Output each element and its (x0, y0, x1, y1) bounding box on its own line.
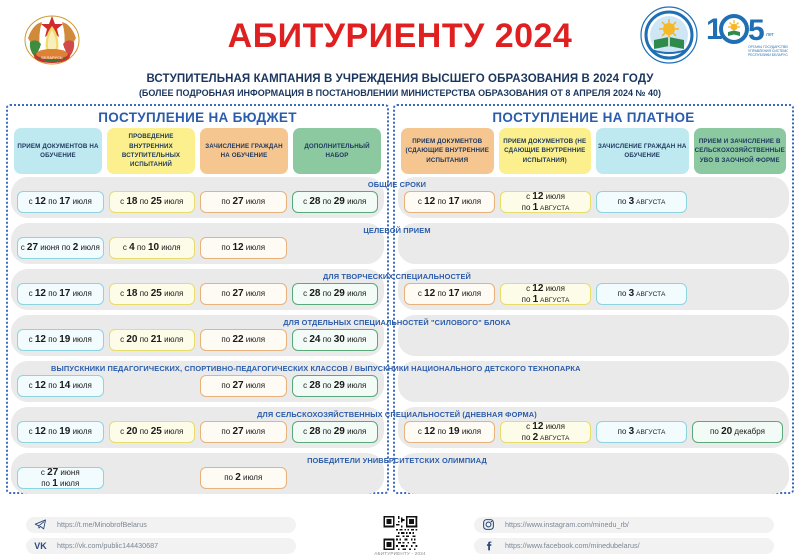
schedule-cell-text: с 12 июляпо 1 АВГУСТА (522, 191, 570, 214)
column-header-label: ПРИЕМ ДОКУМЕНТОВ (НЕ СДАЮЩИЕ ВНУТРЕННИЕ … (500, 137, 591, 165)
vk-icon[interactable]: VK (34, 539, 47, 552)
schedule-cell-text: с 28 по 29 июля (303, 288, 366, 300)
schedule-cell-text: с 12 по 19 июля (29, 334, 92, 346)
schedule-cell-text: с 12 по 17 июля (418, 196, 481, 208)
schedule-row-cells: с 27 июня по 2 июляс 4 по 10 июляпо 12 и… (11, 237, 384, 259)
schedule-row-cells: с 12 по 19 июляс 20 по 21 июляпо 22 июля… (11, 329, 384, 351)
schedule-cell-paid-r0-c1: с 12 июляпо 1 АВГУСТА (500, 191, 591, 213)
schedule-row-cells: с 12 по 17 июляс 18 по 25 июляпо 27 июля… (11, 191, 384, 213)
column-header-budget-1: ПРОВЕДЕНИЕ ВНУТРЕННИХ ВСТУПИТЕЛЬНЫХ ИСПЫ… (107, 128, 195, 174)
schedule-cell-paid-r5-c3: по 20 декабря (692, 421, 783, 443)
schedule-row: ВЫПУСКНИКИ ПЕДАГОГИЧЕСКИХ, СПОРТИВНО-ПЕД… (11, 361, 384, 402)
schedule-cell-text: с 12 по 19 июля (418, 426, 481, 438)
schedule-cell-paid-r2-c2: по 3 АВГУСТА (596, 283, 687, 305)
schedule-row (398, 315, 789, 356)
schedule-cell-paid-r2-c0: с 12 по 17 июля (404, 283, 495, 305)
footer-links-right: https://www.instagram.com/minedu_rb/http… (474, 517, 774, 554)
budget-column-headers: ПРИЕМ ДОКУМЕНТОВ НА ОБУЧЕНИЕПРОВЕДЕНИЕ В… (11, 128, 384, 174)
svg-text:БЕЛАРУСЬ: БЕЛАРУСЬ (41, 55, 63, 60)
schedule-cell-budget-r2-c0: с 12 по 17 июля (17, 283, 104, 305)
schedule-cell-text: по 2 июля (224, 472, 262, 484)
schedule-cell-budget-r1-c1: с 4 по 10 июля (109, 237, 196, 259)
footer-links-left: https://t.me/MinobrofBelarusVKhttps://vk… (26, 517, 296, 554)
budget-rows: ОБЩИЕ СРОКИс 12 по 17 июляс 18 по 25 июл… (11, 177, 384, 494)
schedule-cell-empty (292, 237, 379, 259)
footer-link-url[interactable]: https://vk.com/public144430687 (57, 541, 158, 550)
schedule-row-cells: с 12 по 19 июляс 12 июляпо 2 АВГУСТАпо 3… (398, 421, 789, 443)
panel-paid-title: ПОСТУПЛЕНИЕ НА ПЛАТНОЕ (398, 110, 789, 125)
paid-column-headers: ПРИЕМ ДОКУМЕНТОВ (СДАЮЩИЕ ВНУТРЕННИЕ ИСП… (398, 128, 789, 174)
instagram-icon[interactable] (482, 518, 495, 531)
schedule-cell-text: с 18 по 25 июля (120, 196, 183, 208)
schedule-cell-empty (292, 467, 379, 489)
column-header-label: ЗАЧИСЛЕНИЕ ГРАЖДАН НА ОБУЧЕНИЕ (201, 142, 287, 161)
ministry-of-education-logo-icon (640, 6, 698, 64)
footer-link-url[interactable]: https://t.me/MinobrofBelarus (57, 520, 147, 529)
footer-link-row[interactable]: https://t.me/MinobrofBelarus (26, 517, 296, 533)
schedule-row-cells: с 27 июняпо 1 июляпо 2 июля (11, 467, 384, 489)
schedule-cell-text: по 3 АВГУСТА (618, 426, 666, 438)
qr-code-block: АБИТУРИЕНТУ - 2024 (374, 516, 425, 556)
admission-schedule: ПОСТУПЛЕНИЕ НА БЮДЖЕТ ПРИЕМ ДОКУМЕНТОВ Н… (0, 104, 800, 494)
footer-link-row[interactable]: https://www.facebook.com/minedubelarus/ (474, 538, 774, 554)
schedule-cell-budget-r0-c1: с 18 по 25 июля (109, 191, 196, 213)
schedule-cell-text: с 28 по 29 июля (303, 196, 366, 208)
schedule-cell-text: с 28 по 29 июля (303, 426, 366, 438)
schedule-cell-text: с 4 по 10 июля (123, 242, 181, 254)
schedule-cell-text: по 3 АВГУСТА (618, 196, 666, 208)
panel-budget: ПОСТУПЛЕНИЕ НА БЮДЖЕТ ПРИЕМ ДОКУМЕНТОВ Н… (6, 104, 389, 494)
schedule-cell-budget-r5-c3: с 28 по 29 июля (292, 421, 379, 443)
schedule-row-cells: с 12 по 17 июляс 18 по 25 июляпо 27 июля… (11, 283, 384, 305)
schedule-row-cells: с 12 по 14 июляпо 27 июляс 28 по 29 июля (11, 375, 384, 397)
schedule-cell-empty (109, 467, 196, 489)
facebook-icon[interactable] (482, 539, 495, 552)
schedule-row: ЦЕЛЕВОЙ ПРИЕМс 27 июня по 2 июляс 4 по 1… (11, 223, 384, 264)
schedule-row-cells (398, 467, 789, 489)
schedule-row (398, 223, 789, 264)
footer-link-url[interactable]: https://www.instagram.com/minedu_rb/ (505, 520, 629, 529)
schedule-cell-text: по 3 АВГУСТА (618, 288, 666, 300)
schedule-cell-budget-r3-c2: по 22 июля (200, 329, 287, 351)
schedule-cell-budget-r2-c2: по 27 июля (200, 283, 287, 305)
header-logos: 1 5 лет ОРГАНЫ ГОСУДАРСТВЕННОГО УПРАВЛЕН… (640, 6, 788, 64)
schedule-cell-empty (692, 375, 783, 397)
column-header-label: ДОПОЛНИТЕЛЬНЫЙ НАБОР (294, 142, 380, 161)
footer-link-row[interactable]: https://www.instagram.com/minedu_rb/ (474, 517, 774, 533)
column-header-label: ПРОВЕДЕНИЕ ВНУТРЕННИХ ВСТУПИТЕЛЬНЫХ ИСПЫ… (108, 132, 194, 169)
subtitle-secondary: (БОЛЕЕ ПОДРОБНАЯ ИНФОРМАЦИЯ В ПОСТАНОВЛЕ… (0, 88, 800, 98)
schedule-cell-text: с 12 по 17 июля (29, 196, 92, 208)
schedule-cell-text: по 27 июля (221, 288, 265, 300)
schedule-cell-empty (500, 467, 591, 489)
schedule-cell-budget-r5-c2: по 27 июля (200, 421, 287, 443)
schedule-cell-empty (500, 329, 591, 351)
schedule-cell-paid-r0-c0: с 12 по 17 июля (404, 191, 495, 213)
schedule-cell-paid-r5-c1: с 12 июляпо 2 АВГУСТА (500, 421, 591, 443)
schedule-cell-budget-r3-c3: с 24 по 30 июля (292, 329, 379, 351)
schedule-cell-empty (692, 191, 783, 213)
schedule-cell-budget-r1-c2: по 12 июля (200, 237, 287, 259)
svg-text:РЕСПУБЛИКИ БЕЛАРУСЬ: РЕСПУБЛИКИ БЕЛАРУСЬ (748, 53, 788, 57)
schedule-cell-budget-r3-c0: с 12 по 19 июля (17, 329, 104, 351)
schedule-cell-budget-r0-c0: с 12 по 17 июля (17, 191, 104, 213)
page-header: БЕЛАРУСЬ АБИТУРИЕНТУ 2024 (0, 0, 800, 72)
svg-text:лет: лет (766, 32, 775, 38)
schedule-row: с 12 по 17 июляс 12 июляпо 1 АВГУСТАпо 3… (398, 177, 789, 218)
schedule-row (398, 361, 789, 402)
schedule-cell-empty (404, 467, 495, 489)
svg-text:VK: VK (34, 541, 47, 551)
schedule-cell-text: по 27 июля (221, 196, 265, 208)
belarus-coat-of-arms-icon: БЕЛАРУСЬ (16, 4, 88, 70)
subtitle-primary: ВСТУПИТЕЛЬНАЯ КАМПАНИЯ В УЧРЕЖДЕНИЯ ВЫСШ… (0, 73, 800, 85)
schedule-cell-paid-r5-c0: с 12 по 19 июля (404, 421, 495, 443)
svg-text:5: 5 (748, 14, 765, 47)
schedule-cell-empty (692, 467, 783, 489)
schedule-row-cells: с 12 по 19 июляс 20 по 25 июляпо 27 июля… (11, 421, 384, 443)
column-header-budget-2: ЗАЧИСЛЕНИЕ ГРАЖДАН НА ОБУЧЕНИЕ (200, 128, 288, 174)
schedule-cell-budget-r6-c0: с 27 июняпо 1 июля (17, 467, 104, 489)
schedule-cell-budget-r0-c3: с 28 по 29 июля (292, 191, 379, 213)
schedule-row-cells: с 12 по 17 июляс 12 июляпо 1 АВГУСТАпо 3… (398, 283, 789, 305)
schedule-row: ДЛЯ СЕЛЬСКОХОЗЯЙСТВЕННЫХ СПЕЦИАЛЬНОСТЕЙ … (11, 407, 384, 448)
schedule-cell-text: по 12 июля (221, 242, 265, 254)
schedule-cell-empty (404, 329, 495, 351)
schedule-cell-empty (692, 237, 783, 259)
column-header-label: ПРИЕМ ДОКУМЕНТОВ (СДАЮЩИЕ ВНУТРЕННИЕ ИСП… (402, 137, 493, 165)
schedule-cell-empty (596, 467, 687, 489)
schedule-row: с 12 по 17 июляс 12 июляпо 1 АВГУСТАпо 3… (398, 269, 789, 310)
schedule-cell-text: по 20 декабря (710, 426, 765, 438)
schedule-cell-budget-r1-c0: с 27 июня по 2 июля (17, 237, 104, 259)
footer-link-row[interactable]: VKhttps://vk.com/public144430687 (26, 538, 296, 554)
schedule-row-cells (398, 375, 789, 397)
column-header-budget-0: ПРИЕМ ДОКУМЕНТОВ НА ОБУЧЕНИЕ (14, 128, 102, 174)
schedule-cell-empty (596, 375, 687, 397)
schedule-cell-budget-r2-c3: с 28 по 29 июля (292, 283, 379, 305)
page-footer: https://t.me/MinobrofBelarusVKhttps://vk… (0, 511, 800, 559)
schedule-row-cells (398, 237, 789, 259)
schedule-cell-budget-r3-c1: с 20 по 21 июля (109, 329, 196, 351)
schedule-cell-text: с 20 по 25 июля (120, 426, 183, 438)
qr-caption: АБИТУРИЕНТУ - 2024 (374, 551, 425, 556)
schedule-cell-budget-r6-c2: по 2 июля (200, 467, 287, 489)
qr-code-icon (383, 516, 417, 550)
panel-budget-title: ПОСТУПЛЕНИЕ НА БЮДЖЕТ (11, 110, 384, 125)
schedule-cell-text: с 27 июня по 2 июля (21, 242, 100, 254)
schedule-cell-text: с 12 по 17 июля (418, 288, 481, 300)
schedule-cell-empty (404, 375, 495, 397)
schedule-cell-text: с 12 июляпо 2 АВГУСТА (522, 421, 570, 444)
schedule-row-cells: с 12 по 17 июляс 12 июляпо 1 АВГУСТАпо 3… (398, 191, 789, 213)
paid-rows: с 12 по 17 июляс 12 июляпо 1 АВГУСТАпо 3… (398, 177, 789, 494)
schedule-cell-text: с 12 по 14 июля (29, 380, 92, 392)
schedule-cell-budget-r4-c0: с 12 по 14 июля (17, 375, 104, 397)
schedule-cell-budget-r5-c1: с 20 по 25 июля (109, 421, 196, 443)
panel-paid: ПОСТУПЛЕНИЕ НА ПЛАТНОЕ ПРИЕМ ДОКУМЕНТОВ … (393, 104, 794, 494)
schedule-cell-text: по 27 июля (221, 380, 265, 392)
column-header-paid-0: ПРИЕМ ДОКУМЕНТОВ (СДАЮЩИЕ ВНУТРЕННИЕ ИСП… (401, 128, 494, 174)
schedule-cell-text: с 24 по 30 июля (303, 334, 366, 346)
column-header-label: ПРИЕМ ДОКУМЕНТОВ НА ОБУЧЕНИЕ (15, 142, 101, 161)
column-header-label: ЗАЧИСЛЕНИЕ ГРАЖДАН НА ОБУЧЕНИЕ (597, 142, 688, 161)
schedule-row: ДЛЯ ТВОРЧЕСКИХ СПЕЦИАЛЬНОСТЕЙс 12 по 17 … (11, 269, 384, 310)
column-header-paid-3: ПРИЕМ И ЗАЧИСЛЕНИЕ В СЕЛЬСКОХОЗЯЙСТВЕННЫ… (694, 128, 787, 174)
page-title: АБИТУРИЕНТУ 2024 (228, 17, 573, 56)
schedule-cell-empty (596, 329, 687, 351)
schedule-cell-text: с 12 по 19 июля (29, 426, 92, 438)
schedule-cell-paid-r5-c2: по 3 АВГУСТА (596, 421, 687, 443)
schedule-cell-empty (596, 237, 687, 259)
schedule-row (398, 453, 789, 494)
schedule-cell-budget-r2-c1: с 18 по 25 июля (109, 283, 196, 305)
column-header-label: ПРИЕМ И ЗАЧИСЛЕНИЕ В СЕЛЬСКОХОЗЯЙСТВЕННЫ… (695, 137, 786, 165)
column-header-paid-2: ЗАЧИСЛЕНИЕ ГРАЖДАН НА ОБУЧЕНИЕ (596, 128, 689, 174)
column-header-budget-3: ДОПОЛНИТЕЛЬНЫЙ НАБОР (293, 128, 381, 174)
schedule-cell-budget-r5-c0: с 12 по 19 июля (17, 421, 104, 443)
schedule-cell-empty (109, 375, 196, 397)
schedule-cell-empty (404, 237, 495, 259)
schedule-cell-budget-r4-c2: по 27 июля (200, 375, 287, 397)
schedule-cell-paid-r2-c1: с 12 июляпо 1 АВГУСТА (500, 283, 591, 305)
schedule-cell-text: с 18 по 25 июля (120, 288, 183, 300)
schedule-row: ДЛЯ ОТДЕЛЬНЫХ СПЕЦИАЛЬНОСТЕЙ "СИЛОВОГО" … (11, 315, 384, 356)
schedule-cell-empty (500, 237, 591, 259)
schedule-cell-budget-r4-c3: с 28 по 29 июля (292, 375, 379, 397)
schedule-row-cells (398, 329, 789, 351)
schedule-cell-text: по 22 июля (221, 334, 265, 346)
column-header-paid-1: ПРИЕМ ДОКУМЕНТОВ (НЕ СДАЮЩИЕ ВНУТРЕННИЕ … (499, 128, 592, 174)
schedule-cell-empty (500, 375, 591, 397)
schedule-cell-text: с 27 июняпо 1 июля (41, 467, 80, 490)
footer-link-url[interactable]: https://www.facebook.com/minedubelarus/ (505, 541, 640, 550)
schedule-cell-empty (692, 329, 783, 351)
schedule-row: с 12 по 19 июляс 12 июляпо 2 АВГУСТАпо 3… (398, 407, 789, 448)
anniversary-105-logo: 1 5 лет ОРГАНЫ ГОСУДАРСТВЕННОГО УПРАВЛЕН… (704, 9, 788, 61)
schedule-cell-paid-r0-c2: по 3 АВГУСТА (596, 191, 687, 213)
schedule-cell-text: с 28 по 29 июля (303, 380, 366, 392)
telegram-icon[interactable] (34, 518, 47, 531)
schedule-cell-empty (692, 283, 783, 305)
subtitle-block: ВСТУПИТЕЛЬНАЯ КАМПАНИЯ В УЧРЕЖДЕНИЯ ВЫСШ… (0, 72, 800, 104)
schedule-cell-budget-r0-c2: по 27 июля (200, 191, 287, 213)
schedule-row: ОБЩИЕ СРОКИс 12 по 17 июляс 18 по 25 июл… (11, 177, 384, 218)
schedule-cell-text: по 27 июля (221, 426, 265, 438)
schedule-cell-text: с 20 по 21 июля (120, 334, 183, 346)
schedule-cell-text: с 12 по 17 июля (29, 288, 92, 300)
schedule-row: ПОБЕДИТЕЛИ УНИВЕРСИТЕТСКИХ ОЛИМПИАДс 27 … (11, 453, 384, 494)
schedule-cell-text: с 12 июляпо 1 АВГУСТА (522, 283, 570, 306)
